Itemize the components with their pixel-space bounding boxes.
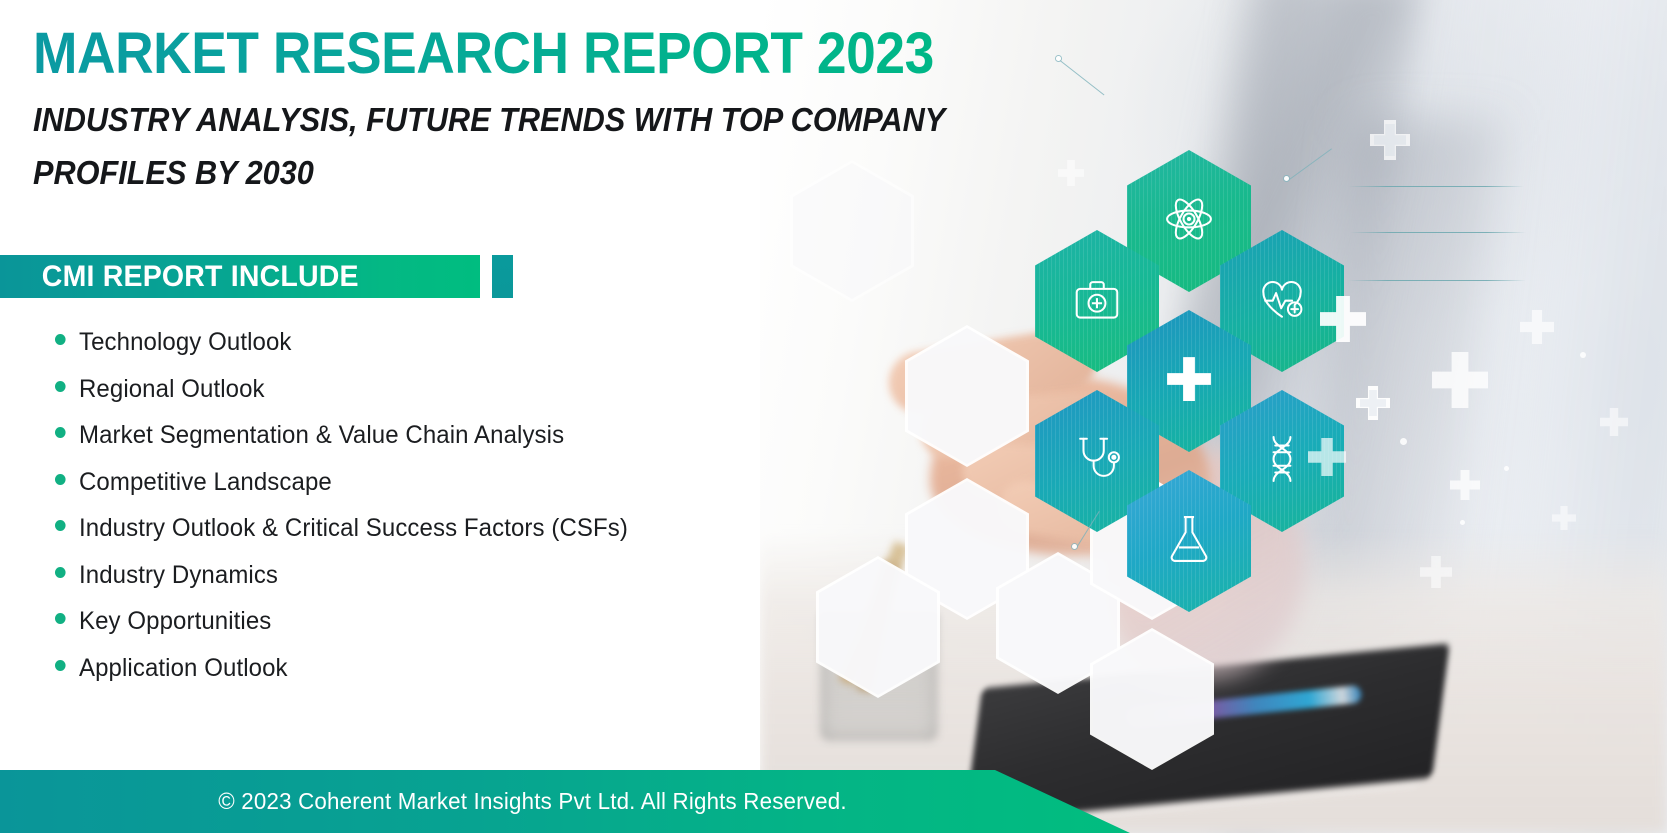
page-title: MARKET RESEARCH REPORT 2023 (33, 24, 934, 83)
list-item: Technology Outlook (55, 328, 746, 375)
list-item: Industry Outlook & Critical Success Fact… (55, 514, 746, 561)
sparkle-dot (1504, 466, 1509, 471)
heartbeat-icon (1255, 272, 1309, 331)
decor-connector-dot (1284, 176, 1289, 181)
medical-bag-icon (1070, 272, 1124, 331)
list-item-label: Industry Dynamics (79, 561, 278, 590)
report-contents-list: Technology Outlook Regional Outlook Mark… (55, 328, 775, 700)
report-include-banner: CMI REPORT INCLUDE (0, 255, 513, 298)
footer-bar: © 2023 Coherent Market Insights Pvt Ltd.… (0, 770, 1130, 833)
banner-label: CMI REPORT INCLUDE (0, 260, 359, 294)
list-item: Market Segmentation & Value Chain Analys… (55, 421, 746, 468)
list-item: Industry Dynamics (55, 561, 746, 608)
sparkle-dot (1460, 520, 1465, 525)
list-item: Application Outlook (55, 654, 746, 701)
page-subtitle: INDUSTRY ANALYSIS, FUTURE TRENDS WITH TO… (33, 93, 963, 200)
list-item: Competitive Landscape (55, 468, 746, 515)
bullet-dot-icon (55, 660, 66, 671)
dna-icon (1255, 432, 1309, 491)
list-item-label: Regional Outlook (79, 375, 265, 404)
report-poster: MARKET RESEARCH REPORT 2023 INDUSTRY ANA… (0, 0, 1667, 833)
decor-line (1348, 280, 1526, 281)
bullet-dot-icon (55, 474, 66, 485)
bullet-dot-icon (55, 334, 66, 345)
list-item-label: Application Outlook (79, 654, 288, 683)
sparkle-dot (1580, 352, 1586, 358)
banner-accent-bar (492, 255, 513, 298)
banner-bar: CMI REPORT INCLUDE (0, 255, 480, 298)
hexagon-icon-cluster (1035, 150, 1365, 460)
copyright-text: © 2023 Coherent Market Insights Pvt Ltd.… (16, 770, 1049, 833)
bullet-dot-icon (55, 427, 66, 438)
list-item: Regional Outlook (55, 375, 746, 422)
bullet-dot-icon (55, 613, 66, 624)
bullet-dot-icon (55, 520, 66, 531)
list-item-label: Technology Outlook (79, 328, 292, 357)
decor-connector-dot (1072, 544, 1077, 549)
decor-connector (1060, 60, 1105, 95)
decor-line (1350, 232, 1526, 233)
bullet-dot-icon (55, 381, 66, 392)
decor-connector-dot (1056, 56, 1061, 61)
list-item-label: Key Opportunities (79, 607, 271, 636)
atom-icon (1162, 192, 1216, 251)
list-item-label: Market Segmentation & Value Chain Analys… (79, 421, 564, 450)
bullet-dot-icon (55, 567, 66, 578)
medical-cross-icon (1162, 352, 1216, 411)
sparkle-dot (1400, 438, 1407, 445)
decor-line (1348, 186, 1524, 187)
list-item: Key Opportunities (55, 607, 746, 654)
list-item-label: Industry Outlook & Critical Success Fact… (79, 514, 628, 543)
flask-icon (1162, 512, 1216, 571)
list-item-label: Competitive Landscape (79, 468, 332, 497)
stethoscope-icon (1070, 432, 1124, 491)
